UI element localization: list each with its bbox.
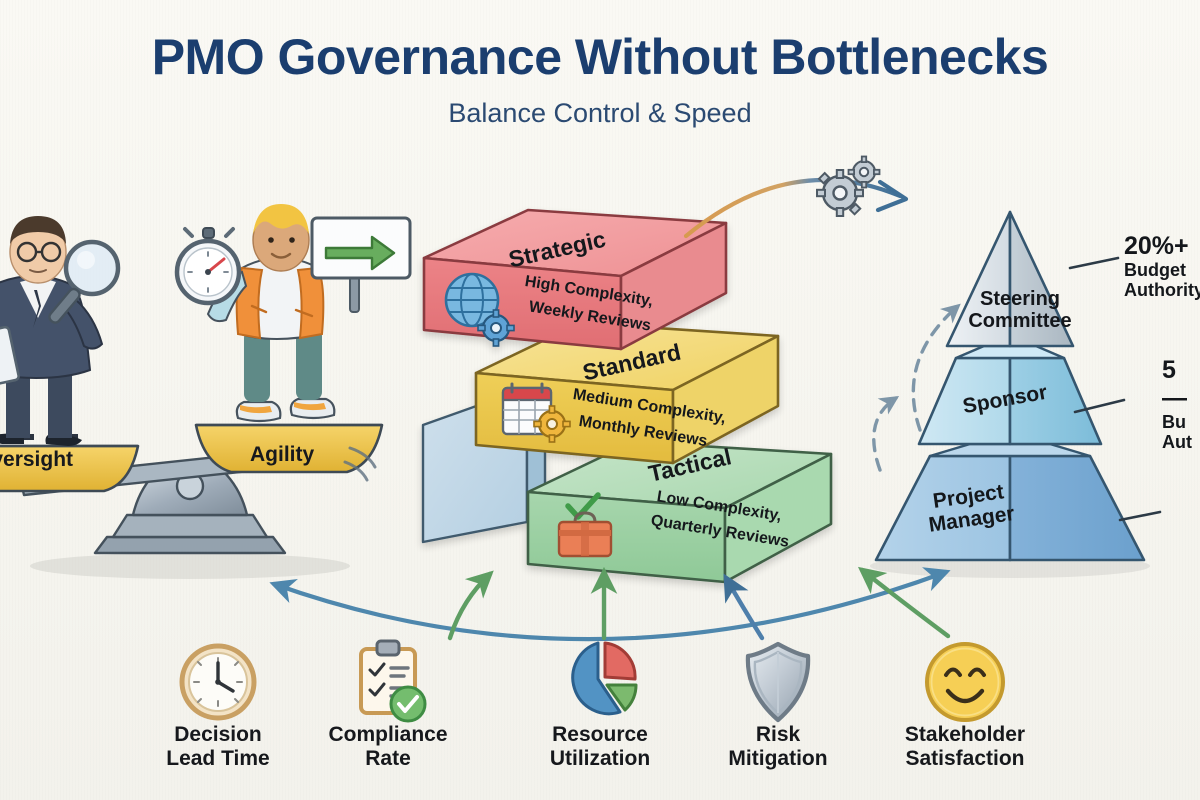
- metric-compliance-rate[interactable]: Compliance Rate: [295, 716, 481, 770]
- feedback-arc: [274, 572, 946, 639]
- tier-block-tactical[interactable]: [528, 442, 831, 582]
- smiley-face-icon: [927, 644, 1003, 720]
- agility-worker-figure: [177, 204, 410, 421]
- uplink-arrow-stakeholder: [862, 570, 948, 636]
- metric-label-decision-line2: Lead Time: [166, 747, 269, 770]
- metric-label-compliance-line1: Compliance: [328, 723, 447, 746]
- metric-icons: [182, 641, 1003, 721]
- callout-leader-bottom: [1120, 512, 1160, 520]
- pyramid-level-sponsor[interactable]: [919, 346, 1101, 444]
- infographic-canvas: PMO Governance Without Bottlenecks Balan…: [0, 0, 1200, 800]
- pyramid-level-project-manager[interactable]: [876, 444, 1144, 560]
- stopwatch-icon: [177, 228, 239, 303]
- shield-icon: [748, 644, 808, 720]
- metric-label-resource-line1: Resource: [552, 723, 648, 746]
- arrow-sign-icon: [312, 218, 410, 312]
- metric-resource-utilization[interactable]: Resource Utilization: [507, 716, 693, 770]
- metric-label-stakeholder-line2: Satisfaction: [905, 747, 1024, 770]
- metric-label-compliance-line2: Rate: [365, 747, 411, 770]
- metric-risk-mitigation[interactable]: Risk Mitigation: [685, 716, 871, 770]
- illustration-layer: [0, 0, 1200, 800]
- metric-label-risk-line1: Risk: [756, 723, 800, 746]
- oversight-executive-figure: [0, 216, 118, 446]
- governance-tier-blocks: [423, 210, 831, 582]
- metric-label-decision-line1: Decision: [174, 723, 262, 746]
- metric-label-resource-line2: Utilization: [550, 747, 650, 770]
- clipboard-check-icon: [361, 641, 425, 721]
- callout-leader-top: [1070, 258, 1118, 268]
- clock-icon: [182, 646, 254, 718]
- metric-label-risk-line2: Mitigation: [728, 747, 827, 770]
- balance-scale-illustration: [0, 204, 410, 579]
- pie-chart-icon: [573, 643, 636, 714]
- metric-stakeholder-satisfaction[interactable]: Stakeholder Satisfaction: [872, 716, 1058, 770]
- tier-block-strategic[interactable]: [424, 210, 726, 349]
- metric-label-stakeholder-line1: Stakeholder: [905, 723, 1025, 746]
- authority-pyramid: [870, 212, 1160, 578]
- metric-decision-lead-time[interactable]: Decision Lead Time: [125, 716, 311, 770]
- pyramid-level-steering-committee[interactable]: [947, 212, 1073, 346]
